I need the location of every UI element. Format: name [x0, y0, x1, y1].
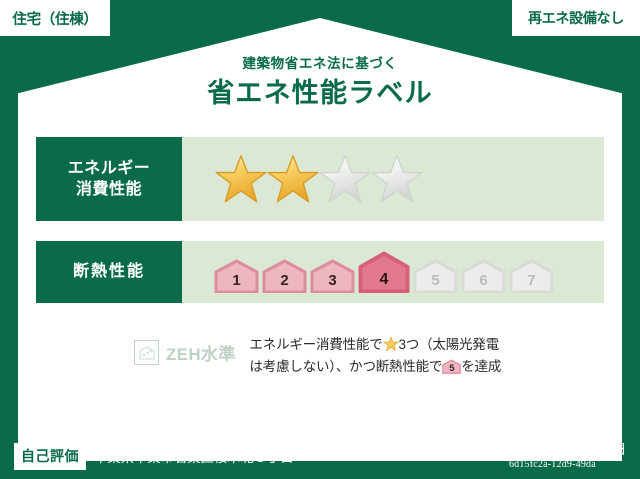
zeh-standard-label: ZEH水準: [166, 340, 236, 365]
energy-consumption-row: エネルギー 消費性能: [36, 137, 604, 221]
energy-consumption-row-label: エネルギー 消費性能: [36, 137, 182, 221]
footer-left-group: 自己評価 千葉県千葉市若葉区桜木北３丁目: [0, 443, 294, 470]
insulation-level-6-number: 6: [461, 273, 506, 288]
zeh-house-glyph: [139, 346, 155, 360]
insulation-label-line1: 断熱性能: [73, 261, 145, 282]
zeh-standard-row: ZEH水準 エネルギー消費性能で3つ（太陽光発電 は考慮しない）、かつ断熱性能で…: [36, 334, 604, 378]
star-rating: [214, 152, 422, 206]
building-type-tag-label: 住宅（住棟）: [12, 8, 97, 29]
insulation-level-3-number: 3: [310, 273, 355, 288]
title-subtitle: 建築物省エネ法に基づく: [0, 57, 640, 71]
insulation-level-2-number: 2: [262, 273, 307, 288]
inline-house-number: 5: [442, 364, 461, 374]
insulation-level-5-number: 5: [413, 273, 458, 288]
insulation-level-6: 6: [461, 259, 506, 293]
renewable-energy-tag: 再エネ設備なし: [512, 0, 640, 36]
star-empty-icon-3: [318, 152, 372, 206]
zeh-description-text: エネルギー消費性能で3つ（太陽光発電 は考慮しない）、かつ断熱性能で5を達成: [236, 334, 605, 378]
insulation-level-2: 2: [262, 259, 307, 293]
evaluation-date: 評価日 2025年10月22日: [479, 441, 626, 457]
energy-performance-label-card: 住宅（住棟） 再エネ設備なし 建築物省エネ法に基づく 省エネ性能ラベル エネルギ…: [0, 0, 640, 479]
insulation-level-1: 1: [214, 259, 259, 293]
energy-label-line2: 消費性能: [76, 179, 142, 200]
page-title: 省エネ性能ラベル: [0, 80, 640, 107]
insulation-level-3: 3: [310, 259, 355, 293]
zeh-desc-part2: は考慮しない）、かつ断熱性能で: [250, 359, 443, 374]
insulation-level-1-number: 1: [214, 273, 259, 288]
insulation-level-4-number: 4: [358, 272, 410, 288]
title-block: 建築物省エネ法に基づく 省エネ性能ラベル: [0, 57, 640, 107]
footer-right-group: 評価日 2025年10月22日 6d15fc2a-12d9-49da: [479, 441, 640, 471]
insulation-level-7-number: 7: [509, 273, 554, 288]
zeh-desc-part1: エネルギー消費性能で: [250, 337, 383, 352]
zeh-house-icon: [134, 340, 159, 365]
energy-label-line1: エネルギー: [68, 158, 151, 179]
star-empty-icon-4: [370, 152, 424, 206]
insulation-level-4-achieved: 4: [358, 251, 410, 293]
insulation-level-5: 5: [413, 259, 458, 293]
property-address: 千葉県千葉市若葉区桜木北３丁目: [94, 446, 294, 466]
insulation-rating-panel: 1 2 3 4: [182, 241, 604, 303]
self-evaluation-badge: 自己評価: [14, 443, 86, 470]
insulation-level-7: 7: [509, 259, 554, 293]
energy-consumption-rating-panel: [182, 137, 604, 221]
building-type-tag: 住宅（住棟）: [0, 0, 110, 36]
zeh-desc-star-count: 3つ（太陽光発電: [399, 337, 499, 352]
insulation-row-label: 断熱性能: [36, 241, 182, 303]
inline-star-icon: [383, 336, 399, 352]
renewable-energy-tag-label: 再エネ設備なし: [528, 8, 624, 28]
evaluation-id: 6d15fc2a-12d9-49da: [479, 459, 626, 471]
star-filled-icon-1: [214, 152, 268, 206]
insulation-performance-row: 断熱性能 1 2: [36, 241, 604, 303]
insulation-level-scale: 1 2 3 4: [214, 251, 554, 293]
inline-house-icon: 5: [442, 358, 461, 375]
zeh-desc-part3: を達成: [461, 359, 501, 374]
zeh-standard-badge: ZEH水準: [36, 334, 236, 365]
footer-bar: 自己評価 千葉県千葉市若葉区桜木北３丁目 評価日 2025年10月22日 6d1…: [0, 433, 640, 479]
star-filled-icon-2: [266, 152, 320, 206]
